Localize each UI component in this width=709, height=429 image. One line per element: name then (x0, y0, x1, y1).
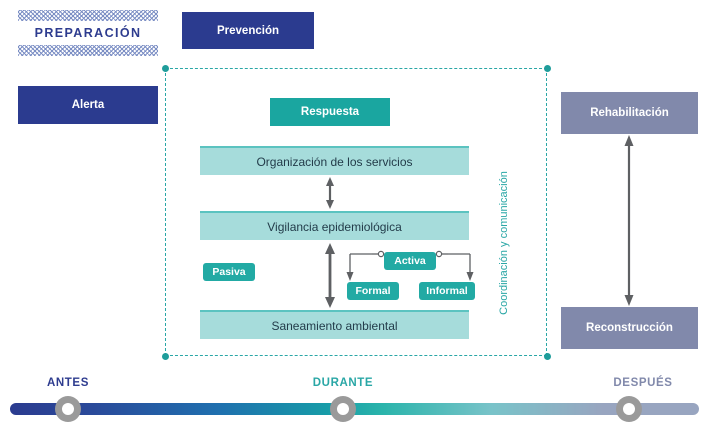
timeline-marker-durante[interactable] (330, 396, 356, 422)
timeline-label-durante: DURANTE (293, 377, 393, 389)
corner-dot-top-right (544, 65, 551, 72)
phase-timeline: ANTES DURANTE DESPUÉS (0, 372, 709, 429)
corner-dot-bottom-left (162, 353, 169, 360)
rehabilitacion-reconstruccion-arrow (614, 134, 644, 307)
organizacion-vigilancia-arrow (315, 177, 345, 209)
timeline-marker-despues[interactable] (616, 396, 642, 422)
preparacion-header: PREPARACIÓN (18, 10, 158, 56)
diagram-canvas: PREPARACIÓN Alerta Prevención Rehabilita… (0, 0, 709, 429)
alerta-box[interactable]: Alerta (18, 86, 158, 124)
corner-dot-bottom-right (544, 353, 551, 360)
activa-box[interactable]: Activa (384, 252, 436, 270)
pasiva-box[interactable]: Pasiva (203, 263, 255, 281)
preparacion-title: PREPARACIÓN (18, 22, 158, 44)
timeline-marker-antes[interactable] (55, 396, 81, 422)
informal-box[interactable]: Informal (419, 282, 475, 300)
timeline-label-antes: ANTES (18, 377, 118, 389)
organizacion-servicios-bar[interactable]: Organización de los servicios (200, 146, 469, 175)
saneamiento-ambiental-bar[interactable]: Saneamiento ambiental (200, 310, 469, 339)
coordinacion-vertical-label: Coordinación y comunicación (494, 130, 514, 355)
hatch-band-bottom (18, 45, 158, 56)
reconstruccion-box[interactable]: Reconstrucción (561, 307, 698, 349)
rehabilitacion-box[interactable]: Rehabilitación (561, 92, 698, 134)
formal-box[interactable]: Formal (347, 282, 399, 300)
hatch-band-top (18, 10, 158, 21)
timeline-label-despues: DESPUÉS (593, 377, 693, 389)
corner-dot-top-left (162, 65, 169, 72)
prevencion-box[interactable]: Prevención (182, 12, 314, 49)
respuesta-box[interactable]: Respuesta (270, 98, 390, 126)
coordinacion-vertical-text: Coordinación y comunicación (498, 171, 510, 315)
vigilancia-epidemiologica-bar[interactable]: Vigilancia epidemiológica (200, 211, 469, 240)
